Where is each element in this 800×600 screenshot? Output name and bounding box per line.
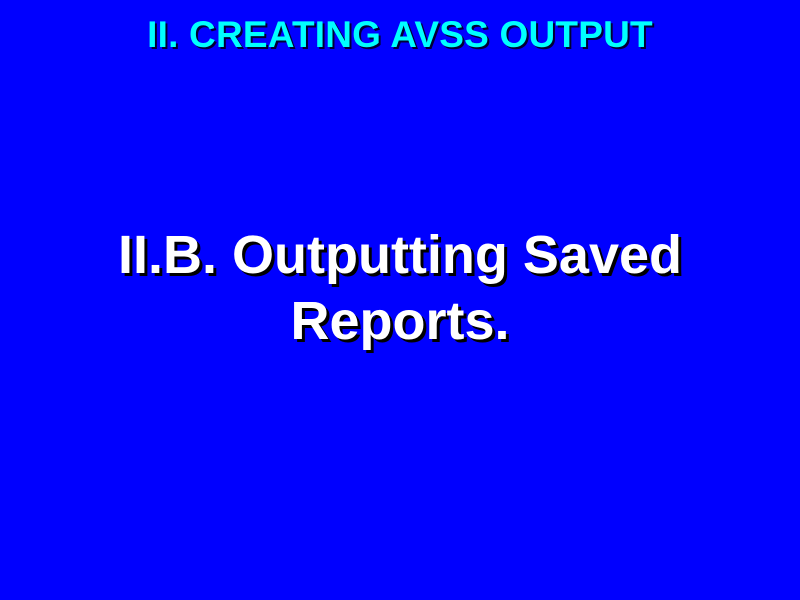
slide-body-text: II.B. Outputting Saved Reports.: [60, 222, 740, 354]
slide-body-line-1: II.B. Outputting Saved: [60, 222, 740, 288]
slide-body-line-2: Reports.: [60, 288, 740, 354]
presentation-slide: II. CREATING AVSS OUTPUT II.B. Outputtin…: [0, 0, 800, 600]
slide-title: II. CREATING AVSS OUTPUT: [0, 13, 800, 57]
